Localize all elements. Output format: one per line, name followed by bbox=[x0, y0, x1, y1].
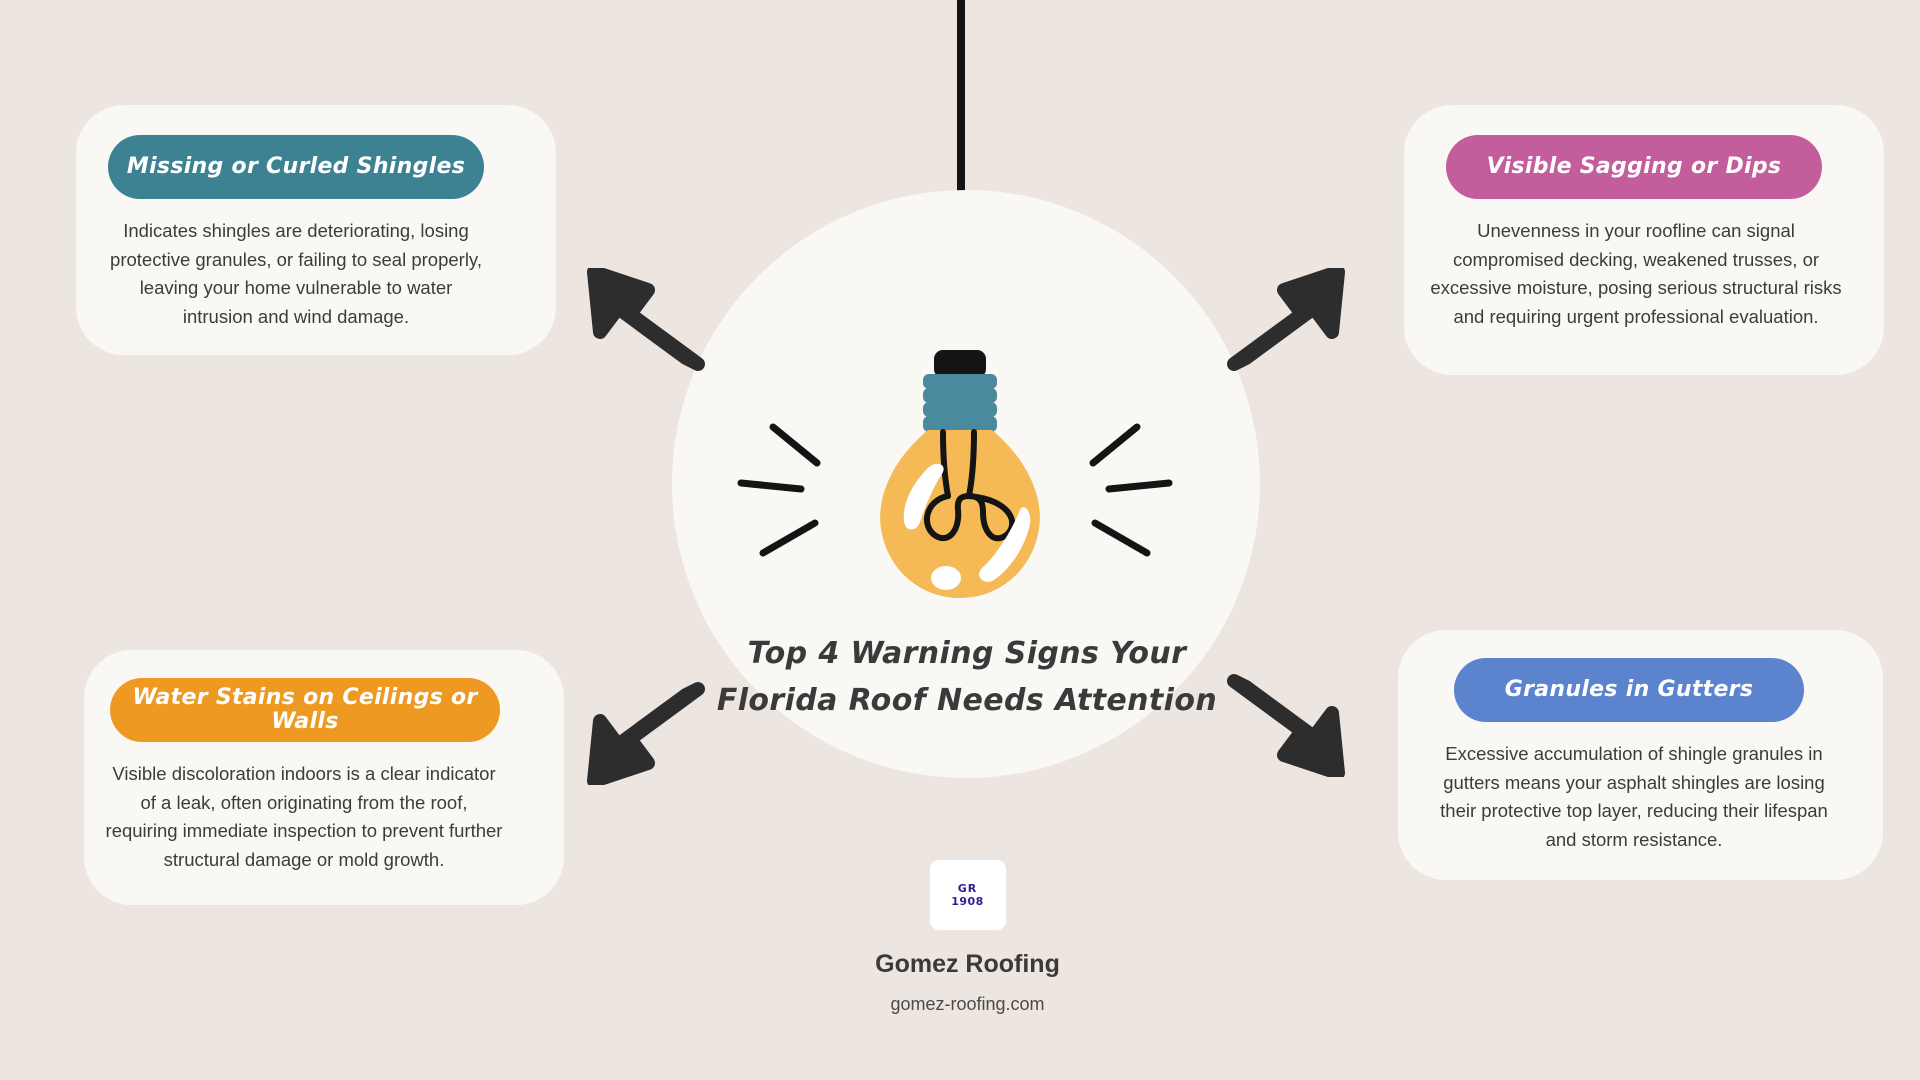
bulb-rays-right bbox=[1065, 405, 1175, 590]
center-title-line-2: Florida Roof Needs Attention bbox=[712, 677, 1222, 724]
card-missing-or-curled-shingles[interactable]: Missing or Curled Shingles Indicates shi… bbox=[76, 105, 556, 355]
card-header-visible-sagging-or-dips: Visible Sagging or Dips bbox=[1446, 135, 1822, 199]
arrow-down-left-icon bbox=[586, 680, 706, 790]
center-title-line-1: Top 4 Warning Signs Your bbox=[712, 630, 1222, 677]
brand-name: Gomez Roofing bbox=[760, 950, 1175, 979]
brand-website[interactable]: gomez-roofing.com bbox=[760, 994, 1175, 1015]
card-header-missing-or-curled-shingles: Missing or Curled Shingles bbox=[108, 135, 484, 199]
card-visible-sagging-or-dips[interactable]: Visible Sagging or Dips Unevenness in yo… bbox=[1404, 105, 1884, 375]
card-header-granules-in-gutters: Granules in Gutters bbox=[1454, 658, 1804, 722]
card-body-visible-sagging-or-dips: Unevenness in your roofline can signal c… bbox=[1426, 217, 1846, 331]
brand-logo-year: 1908 bbox=[951, 895, 984, 908]
arrow-down-right-icon bbox=[1226, 672, 1346, 782]
card-body-water-stains-on-ceilings-or-walls: Visible discoloration indoors is a clear… bbox=[104, 760, 504, 874]
bulb-rays-left bbox=[735, 405, 845, 590]
arrow-up-left-icon bbox=[586, 268, 706, 378]
infographic-canvas: Top 4 Warning Signs Your Florida Roof Ne… bbox=[0, 0, 1920, 1080]
footer: GR 1908 Gomez Roofing gomez-roofing.com bbox=[760, 860, 1175, 1015]
card-water-stains-on-ceilings-or-walls[interactable]: Water Stains on Ceilings or Walls Visibl… bbox=[84, 650, 564, 905]
brand-logo-initials: GR bbox=[958, 882, 978, 895]
card-granules-in-gutters[interactable]: Granules in Gutters Excessive accumulati… bbox=[1398, 630, 1883, 880]
card-header-water-stains-on-ceilings-or-walls: Water Stains on Ceilings or Walls bbox=[110, 678, 500, 742]
card-body-missing-or-curled-shingles: Indicates shingles are deteriorating, lo… bbox=[106, 217, 486, 331]
brand-logo: GR 1908 bbox=[930, 860, 1006, 930]
lightbulb-icon bbox=[840, 350, 1080, 610]
arrow-up-right-icon bbox=[1226, 268, 1346, 378]
center-title: Top 4 Warning Signs Your Florida Roof Ne… bbox=[712, 630, 1222, 724]
card-body-granules-in-gutters: Excessive accumulation of shingle granul… bbox=[1434, 740, 1834, 854]
